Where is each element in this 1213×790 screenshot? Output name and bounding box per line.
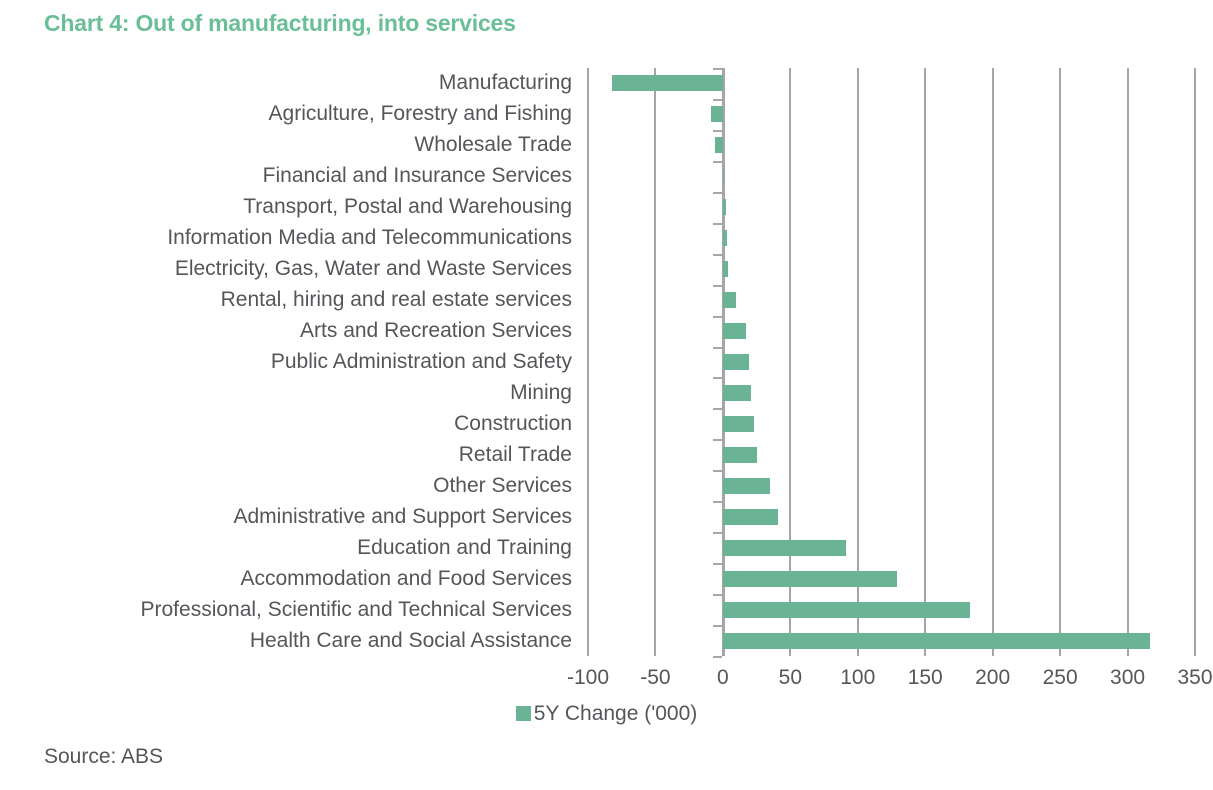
bar[interactable] [612, 75, 723, 91]
axis-tick [713, 439, 722, 441]
gridline [587, 68, 589, 656]
axis-tick [713, 594, 722, 596]
axis-tick [713, 625, 722, 627]
source-note: Source: ABS [44, 745, 163, 769]
category-label: Public Administration and Safety [0, 351, 572, 373]
axis-tick [713, 130, 722, 132]
gridline [789, 68, 791, 656]
category-label: Administrative and Support Services [0, 506, 572, 528]
category-label: Accommodation and Food Services [0, 568, 572, 590]
gridline [992, 68, 994, 656]
x-tick-label: 100 [840, 666, 875, 690]
axis-tick [713, 223, 722, 225]
x-tick-label: -100 [567, 666, 609, 690]
bar[interactable] [723, 447, 757, 463]
bar[interactable] [723, 385, 751, 401]
bar[interactable] [723, 168, 725, 184]
x-tick-label: 50 [779, 666, 802, 690]
category-label: Professional, Scientific and Technical S… [0, 599, 572, 621]
bar[interactable] [723, 602, 970, 618]
axis-tick [713, 532, 722, 534]
category-label: Transport, Postal and Warehousing [0, 196, 572, 218]
gridline [857, 68, 859, 656]
category-label: Arts and Recreation Services [0, 320, 572, 342]
bar[interactable] [723, 292, 736, 308]
bar[interactable] [723, 323, 746, 339]
x-tick-label: -50 [640, 666, 670, 690]
x-tick-label: 300 [1110, 666, 1145, 690]
bar[interactable] [723, 509, 778, 525]
bar[interactable] [723, 199, 726, 215]
gridline [1059, 68, 1061, 656]
legend-label: 5Y Change ('000) [534, 702, 698, 725]
category-label: Health Care and Social Assistance [0, 630, 572, 652]
x-axis-tick-labels: -100-50050100150200250300350 [588, 666, 1195, 696]
axis-tick [713, 377, 722, 379]
bar[interactable] [711, 106, 723, 122]
x-tick-label: 250 [1043, 666, 1078, 690]
category-label: Construction [0, 413, 572, 435]
axis-tick [713, 563, 722, 565]
category-label: Agriculture, Forestry and Fishing [0, 103, 572, 125]
chart-legend: 5Y Change ('000) [0, 702, 1213, 726]
x-tick-label: 0 [717, 666, 729, 690]
axis-tick [713, 347, 722, 349]
gridline [654, 68, 656, 656]
bar[interactable] [723, 230, 727, 246]
bar[interactable] [723, 633, 1151, 649]
axis-tick [713, 501, 722, 503]
bar[interactable] [723, 354, 749, 370]
category-label: Mining [0, 382, 572, 404]
axis-tick [713, 161, 722, 163]
x-tick-label: 200 [975, 666, 1010, 690]
category-label: Electricity, Gas, Water and Waste Servic… [0, 258, 572, 280]
category-label: Retail Trade [0, 444, 572, 466]
category-label: Financial and Insurance Services [0, 165, 572, 187]
axis-tick [713, 470, 722, 472]
gridline [924, 68, 926, 656]
plot-area [588, 68, 1195, 656]
axis-tick [713, 68, 722, 70]
category-label: Wholesale Trade [0, 134, 572, 156]
bar[interactable] [715, 137, 723, 153]
legend-swatch-icon [516, 706, 531, 721]
legend-entry[interactable]: 5Y Change ('000) [516, 702, 698, 726]
bar[interactable] [723, 478, 770, 494]
category-label: Other Services [0, 475, 572, 497]
axis-tick [713, 316, 722, 318]
category-axis-labels: ManufacturingAgriculture, Forestry and F… [0, 68, 572, 656]
axis-tick [713, 656, 722, 658]
category-label: Manufacturing [0, 72, 572, 94]
axis-tick [713, 99, 722, 101]
x-tick-label: 150 [908, 666, 943, 690]
category-label: Rental, hiring and real estate services [0, 289, 572, 311]
axis-tick [713, 192, 722, 194]
category-label: Education and Training [0, 537, 572, 559]
x-tick-label: 350 [1177, 666, 1212, 690]
axis-tick [713, 254, 722, 256]
bar[interactable] [723, 540, 846, 556]
gridline [1194, 68, 1196, 656]
bar[interactable] [723, 261, 728, 277]
chart-container: Chart 4: Out of manufacturing, into serv… [0, 0, 1213, 790]
category-label: Information Media and Telecommunications [0, 227, 572, 249]
gridline [1127, 68, 1129, 656]
bar[interactable] [723, 416, 754, 432]
chart-title: Chart 4: Out of manufacturing, into serv… [44, 10, 516, 37]
bar[interactable] [723, 571, 897, 587]
axis-tick [713, 285, 722, 287]
axis-tick [713, 408, 722, 410]
